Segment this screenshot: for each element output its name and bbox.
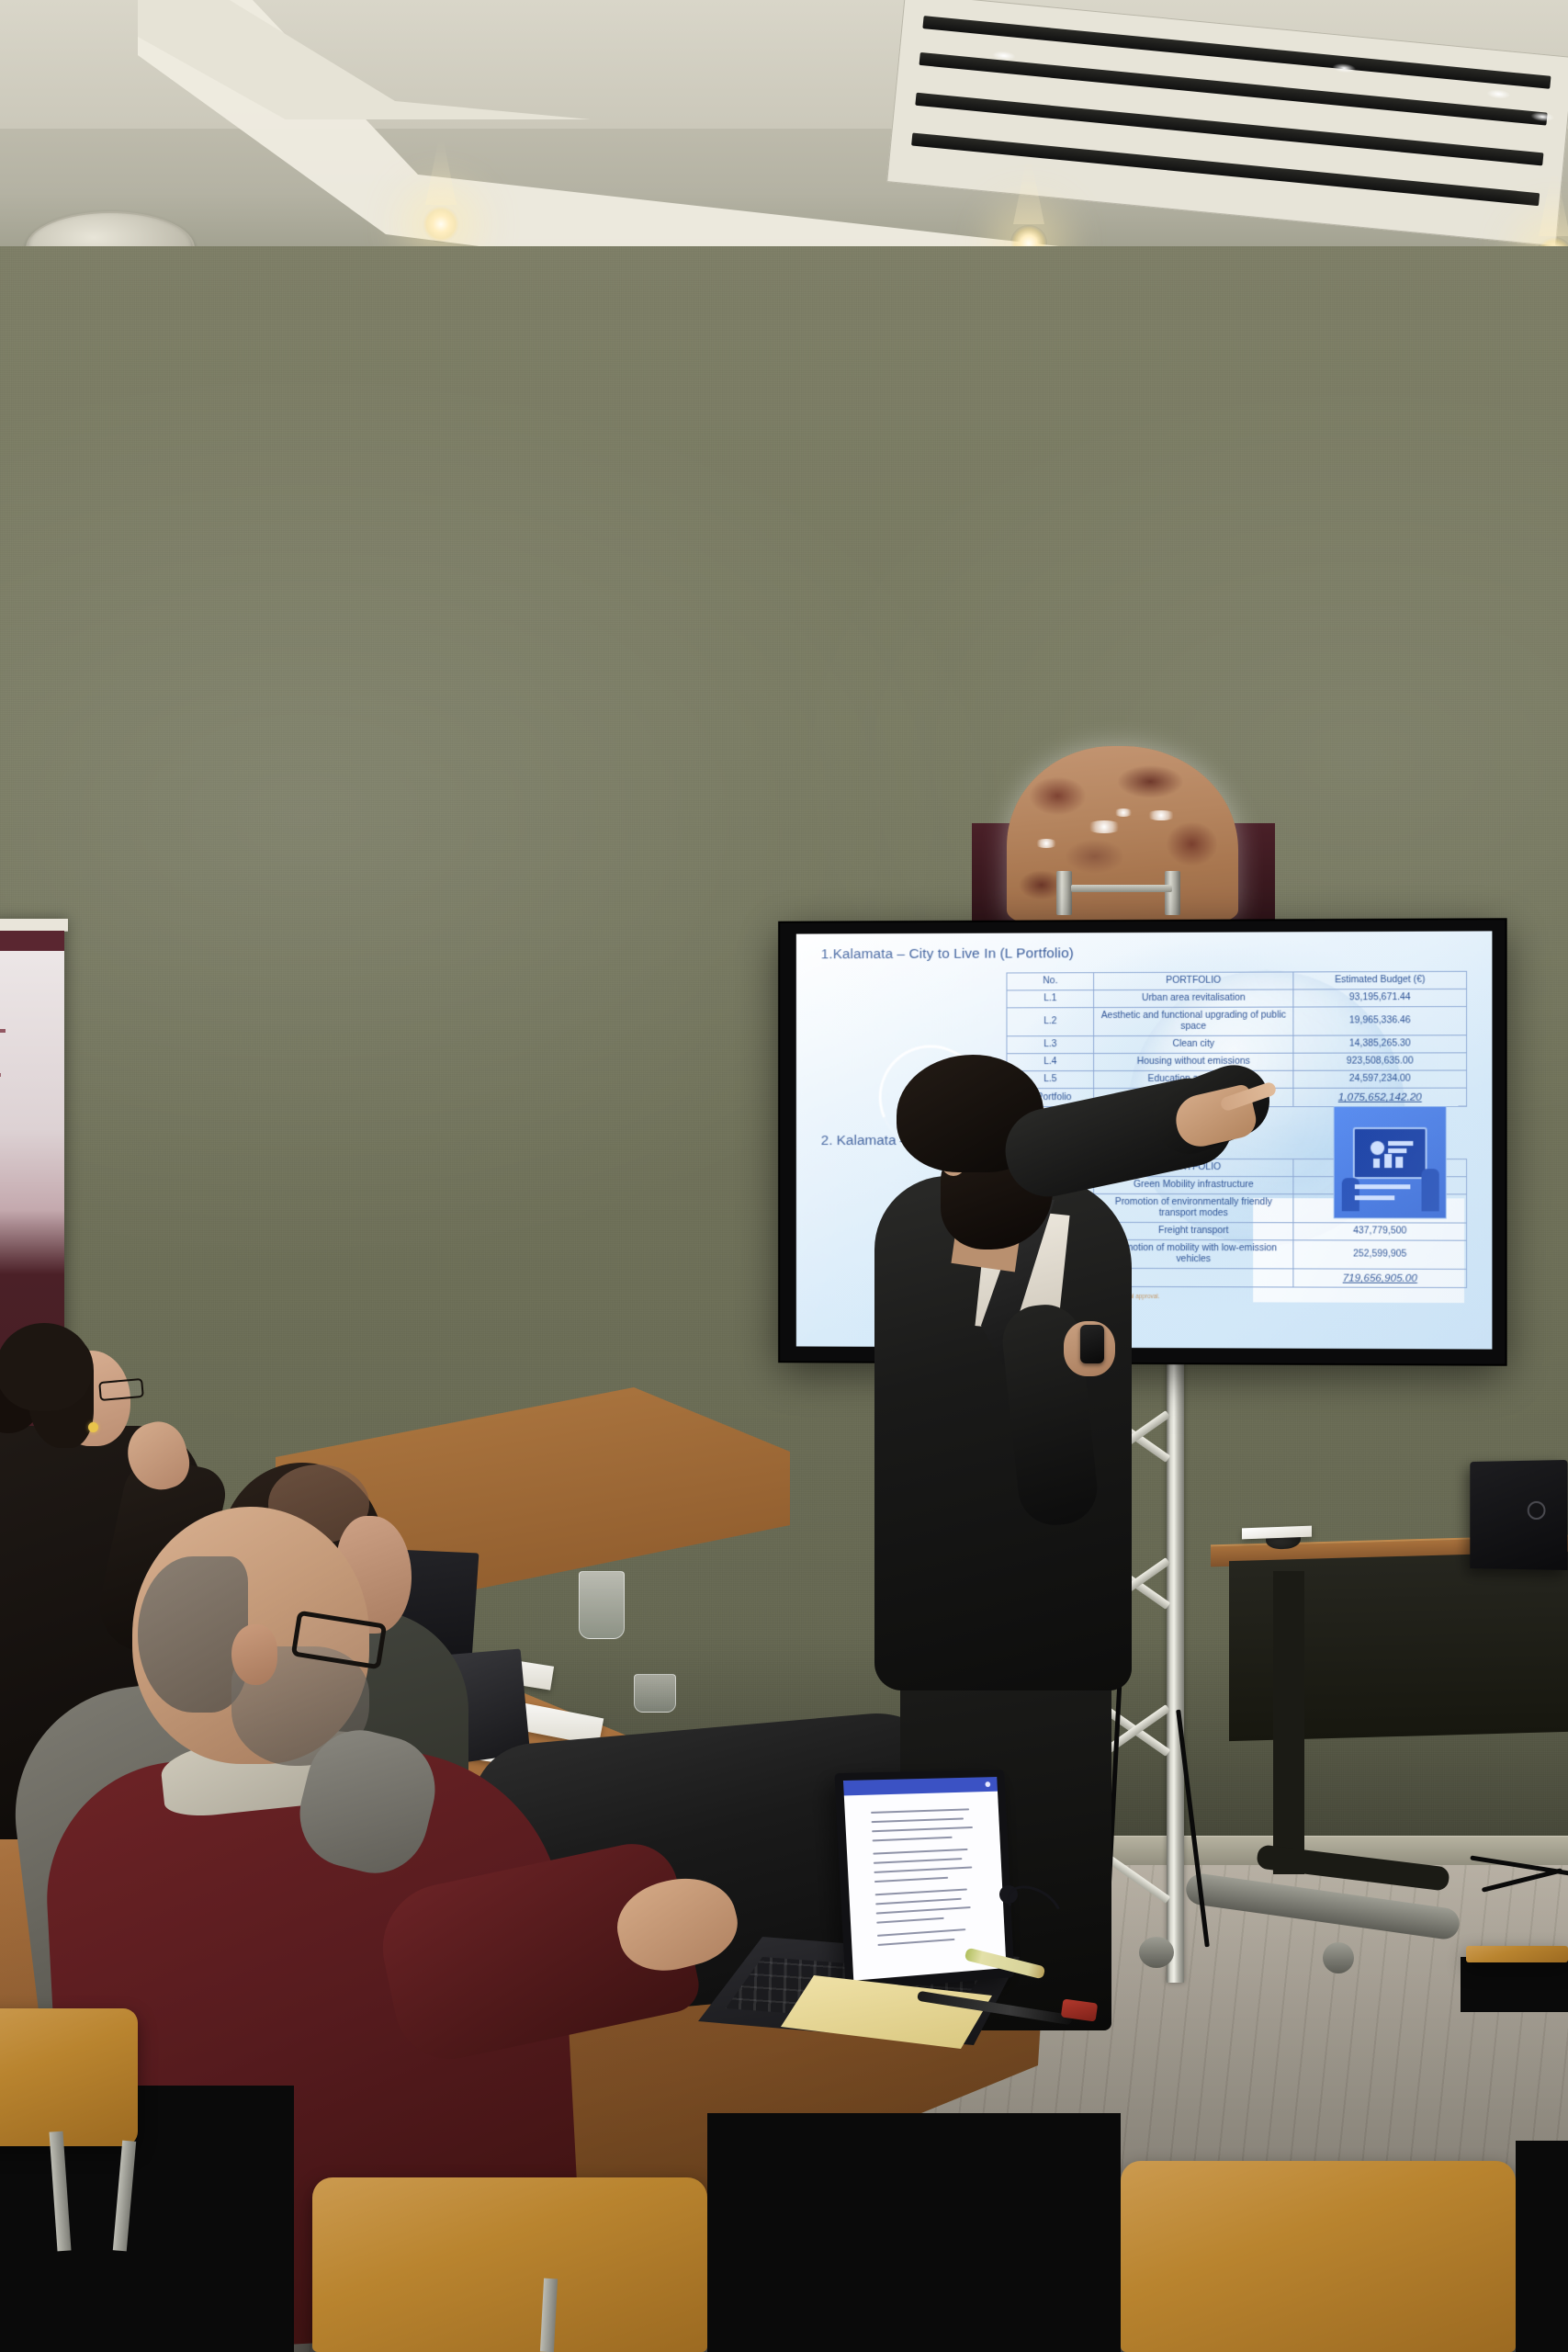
col-portfolio: PORTFOLIO [1094,972,1293,990]
document-titlebar [843,1777,998,1795]
ear [231,1624,277,1685]
table-row: L.1 Urban area revitalisation 93,195,671… [1007,989,1467,1008]
table-row: L.2 Aesthetic and functional upgrading o… [1007,1007,1467,1036]
wall-sign-post [1056,871,1072,915]
total-value: 719,656,905.00 [1293,1269,1467,1288]
chair-gap-shadow [1516,2141,1568,2352]
table-header-row: No. PORTFOLIO Estimated Budget (€) [1007,972,1467,991]
presenter-desk-leg [1273,1571,1304,1874]
slide-section1-title: 1.Kalamata – City to Live In (L Portfoli… [821,946,1074,964]
conference-room-photo: 1.Kalamata – City to Live In (L Portfoli… [0,0,1568,2352]
total-value: 1,075,652,142.20 [1293,1088,1467,1107]
presenter-laptop[interactable] [1470,1460,1567,1570]
hair-top [0,1323,92,1411]
rollup-banner-mark [0,1073,1,1077]
plastic-cup[interactable] [634,1674,676,1713]
window-control-icon[interactable] [985,1781,990,1787]
rollup-banner-top-rail [0,919,68,932]
side-table-edge [1466,1946,1568,1962]
table-row: L.3 Clean city 14,385,265.30 [1007,1035,1467,1054]
rollup-banner-mark [0,1029,6,1033]
chair-gap-shadow [707,2113,1121,2352]
chair-left-rear[interactable] [0,2008,138,2146]
laptop-display [843,1777,1007,1981]
truss-column-right [1167,1349,1184,1983]
col-budget: Estimated Budget (€) [1293,972,1467,990]
wall-sign-crossbar [1071,885,1172,892]
col-no: No. [1007,973,1094,990]
presentation-clicker[interactable] [1080,1325,1104,1363]
chair-front-right[interactable] [1121,2161,1516,2352]
earring-icon [88,1422,98,1432]
table-underside [1461,1957,1568,2012]
truss-caster-wheel [1323,1942,1354,1973]
rollup-banner-stripe [0,931,64,951]
laptop-brand-logo-icon [1528,1501,1546,1520]
wall-sign-post [1165,871,1180,915]
chair-front-left[interactable] [312,2177,707,2352]
plastic-cup[interactable] [579,1571,625,1639]
budget-infographic-image [1334,1106,1447,1219]
eyeglasses-icon [98,1378,144,1401]
ceiling-downlight [423,206,459,243]
truss-base-plate [1139,1937,1174,1968]
